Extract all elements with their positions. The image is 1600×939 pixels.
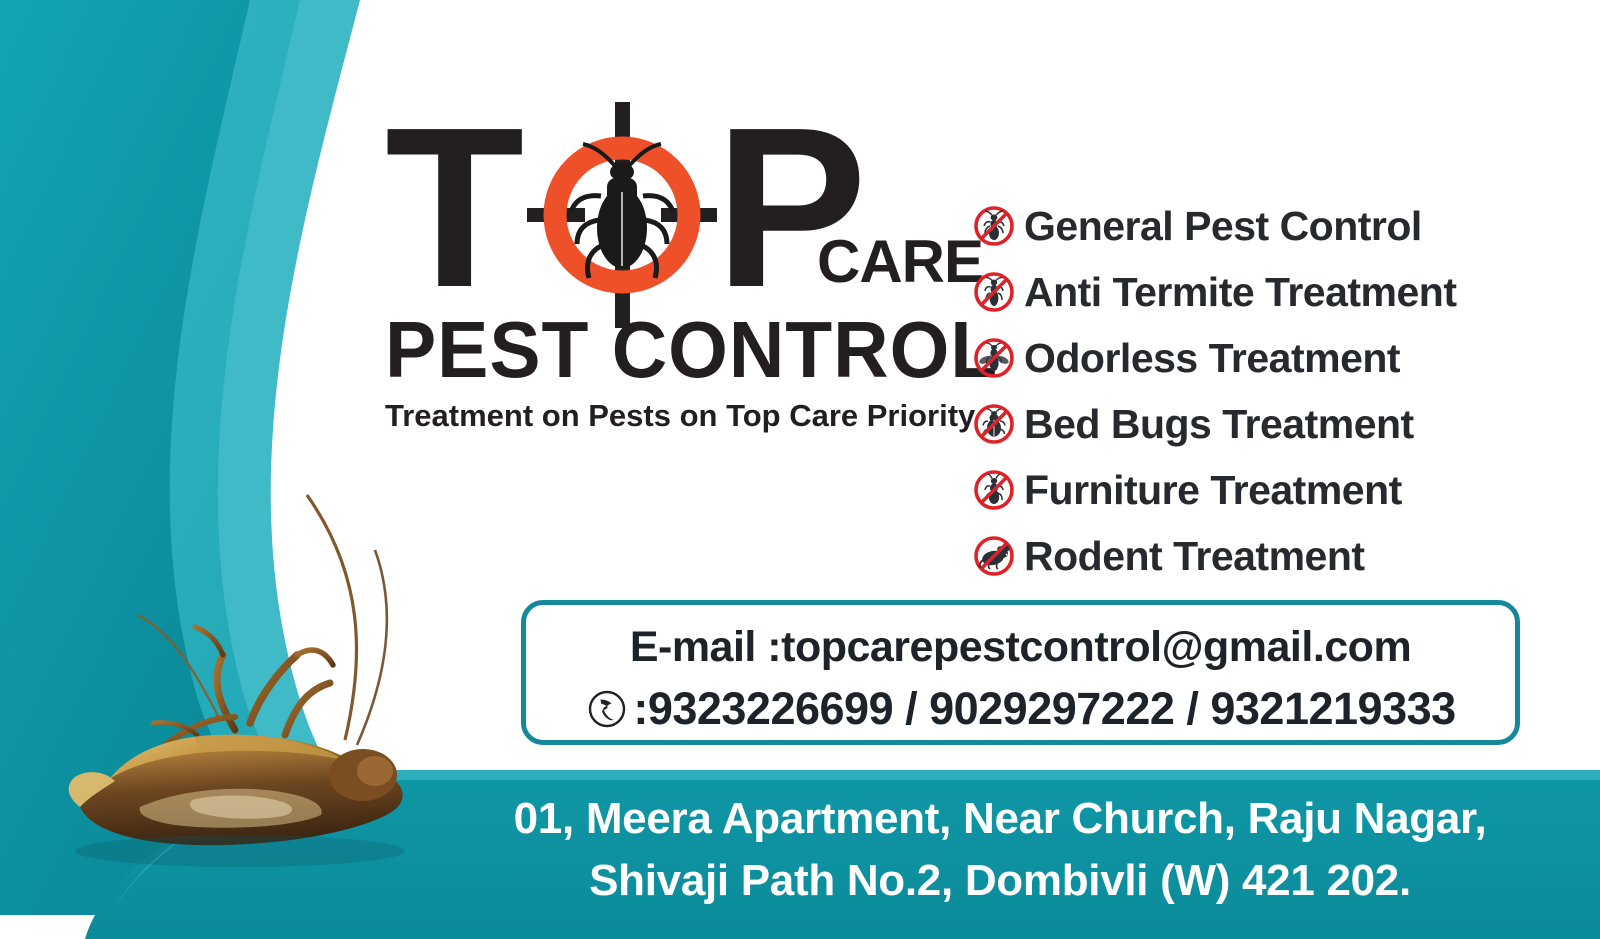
service-item: Anti Termite Treatment [972,259,1592,325]
service-item: Odorless Treatment [972,325,1592,391]
address-line-1: 01, Meera Apartment, Near Church, Raju N… [400,788,1600,850]
services-list: General Pest Control Anti Termite [972,193,1592,589]
phone-separator: : [633,683,648,735]
service-item: Rodent Treatment [972,523,1592,589]
logo-letter-t: T [385,106,518,311]
logo-care-text: CARE [817,232,983,292]
service-label: Anti Termite Treatment [1024,270,1457,314]
logo-wordmark-top: T [385,100,965,305]
no-fly-icon [972,336,1016,380]
telephone-icon [585,687,629,731]
logo-tagline: Treatment on Pests on Top Care Priority [385,399,965,433]
address-block: 01, Meera Apartment, Near Church, Raju N… [400,788,1600,912]
no-ant-icon [972,204,1016,248]
service-item: Furniture Treatment [972,457,1592,523]
no-bedbug-icon [972,402,1016,446]
no-rodent-icon [972,534,1016,578]
address-line-2: Shivaji Path No.2, Dombivli (W) 421 202. [400,850,1600,912]
no-beetle-icon [972,468,1016,512]
email-line: E-mail : topcarepestcontrol@gmail.com [526,615,1515,679]
service-label: Rodent Treatment [1024,534,1365,578]
business-card: T [0,0,1600,939]
service-item: Bed Bugs Treatment [972,391,1592,457]
logo: T [385,100,965,433]
email-address[interactable]: topcarepestcontrol@gmail.com [781,623,1411,672]
service-label: Odorless Treatment [1024,336,1400,380]
service-item: General Pest Control [972,193,1592,259]
phone-numbers[interactable]: 9323226699 / 9029297222 / 9321219333 [648,683,1456,735]
logo-wordmark-bottom: PEST CONTROL [385,309,942,391]
target-beetle-icon [527,100,717,330]
no-termite-icon [972,270,1016,314]
phone-line: : 9323226699 / 9029297222 / 9321219333 [526,679,1515,739]
dead-cockroach-photo [45,455,435,895]
service-label: Furniture Treatment [1024,468,1402,512]
contact-box: E-mail : topcarepestcontrol@gmail.com : … [521,600,1520,745]
email-label: E-mail : [630,623,781,672]
service-label: General Pest Control [1024,204,1422,248]
service-label: Bed Bugs Treatment [1024,402,1414,446]
